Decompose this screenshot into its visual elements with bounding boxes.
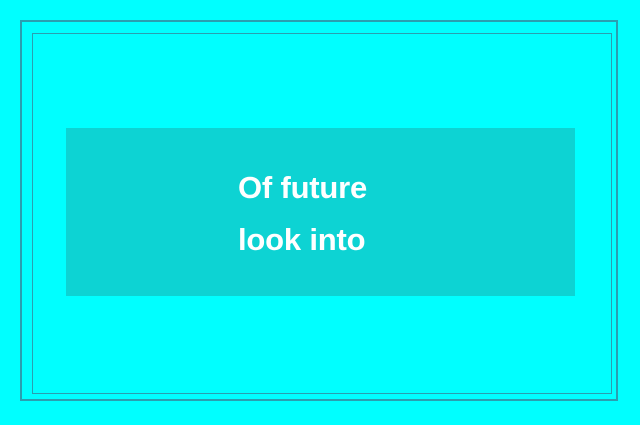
headline-line-2: look into: [238, 214, 568, 266]
content-panel: Of future look into: [66, 128, 575, 296]
headline-line-1: Of future: [238, 162, 568, 214]
slide-canvas: Of future look into: [0, 0, 640, 425]
headline-block: Of future look into: [238, 162, 568, 266]
